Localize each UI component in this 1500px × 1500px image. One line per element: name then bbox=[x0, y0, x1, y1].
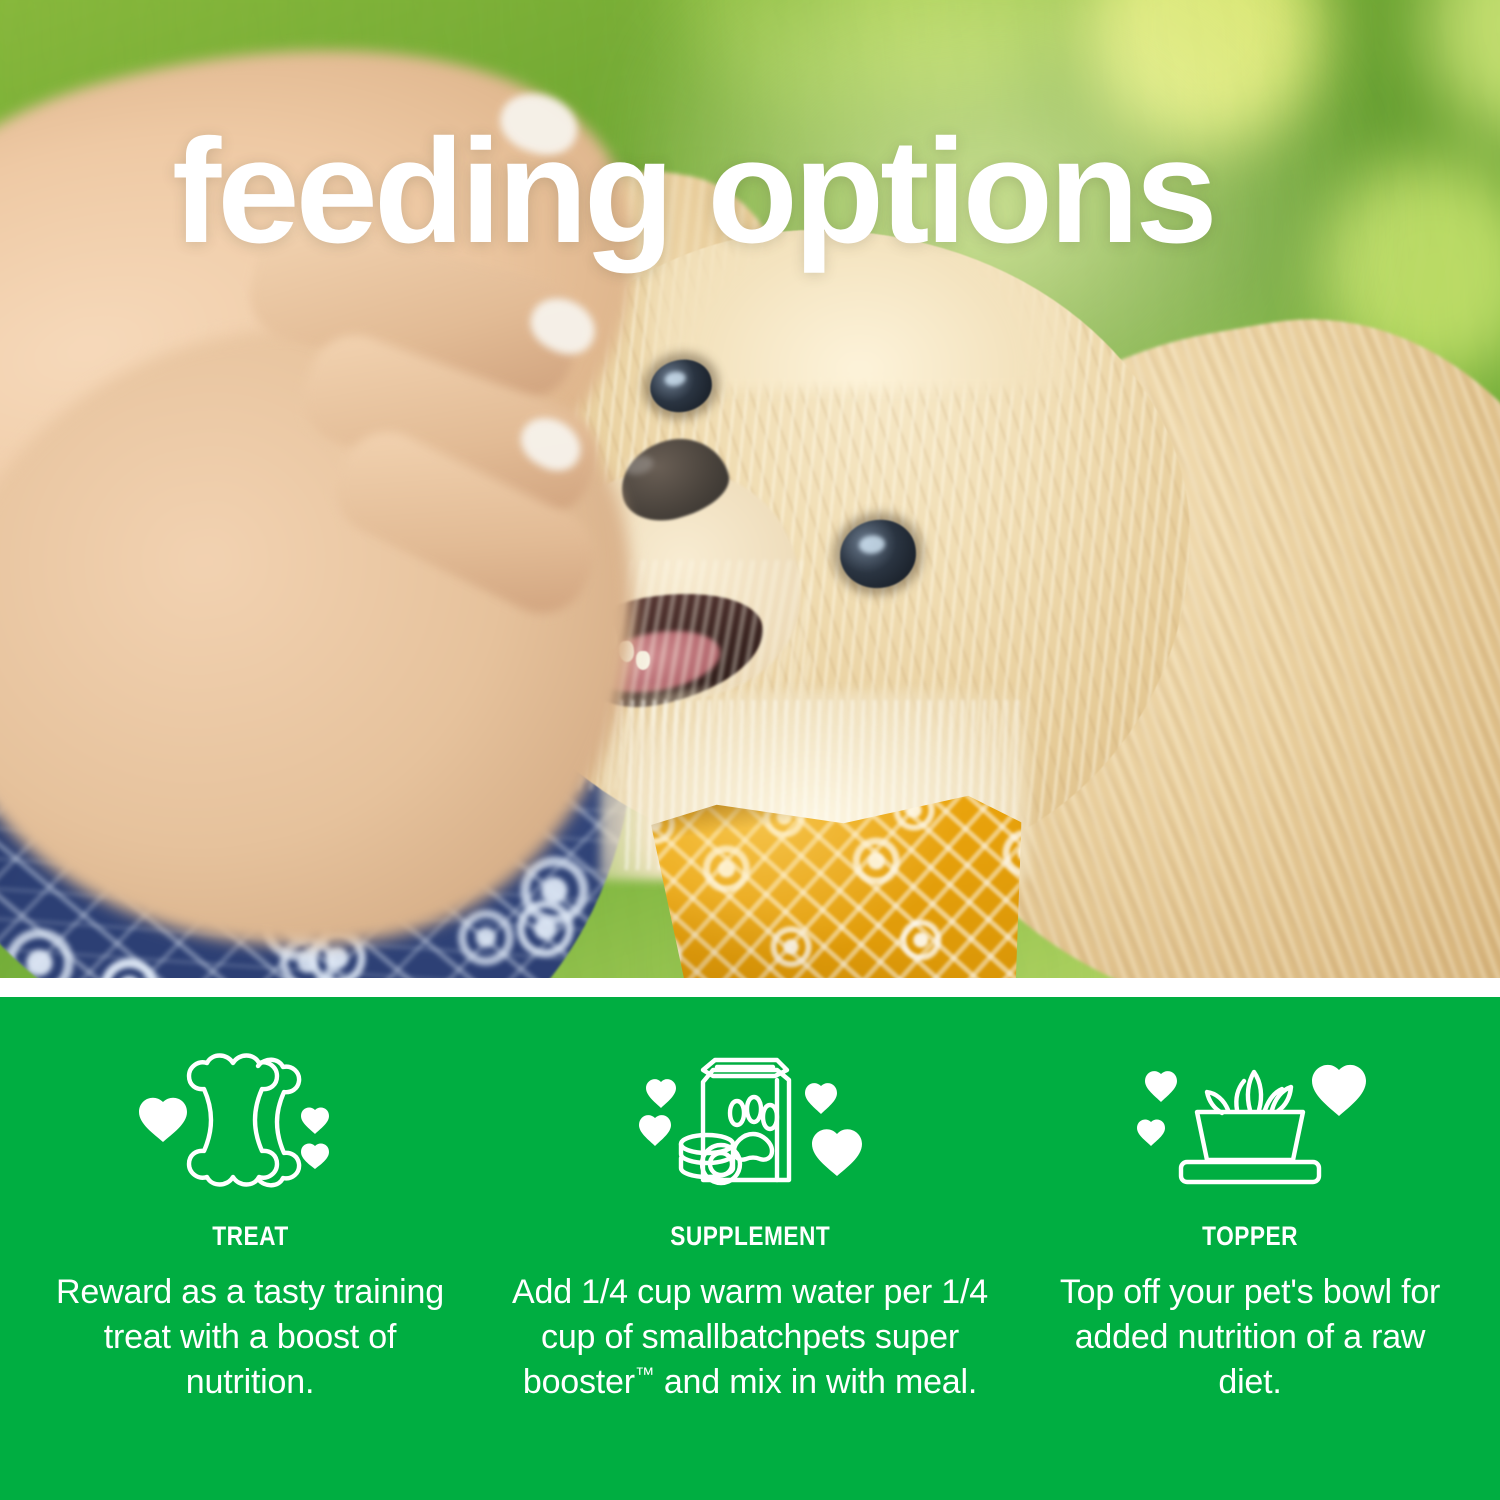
feeding-options-cards: TREAT Reward as a tasty training treat w… bbox=[0, 997, 1500, 1500]
topper-title: TOPPER bbox=[1202, 1221, 1298, 1252]
food-bag-paw-hearts-icon bbox=[625, 1040, 875, 1200]
feeding-option-treat: TREAT Reward as a tasty training treat w… bbox=[0, 997, 500, 1500]
supplement-description: Add 1/4 cup warm water per 1/4 cup of sm… bbox=[510, 1270, 990, 1405]
heart-shapes bbox=[639, 1079, 862, 1176]
feeding-options-panel: TREAT Reward as a tasty training treat w… bbox=[0, 997, 1500, 1500]
supplement-icon-wrap bbox=[620, 1035, 880, 1205]
trademark-symbol: ™ bbox=[635, 1364, 655, 1386]
supplement-description-part2: and mix in with meal. bbox=[655, 1363, 978, 1401]
dog-bone-hearts-icon bbox=[125, 1040, 375, 1200]
eye-catchlight bbox=[664, 371, 687, 388]
treat-icon-wrap bbox=[120, 1035, 380, 1205]
treat-title: TREAT bbox=[212, 1221, 288, 1252]
feeding-option-topper: TOPPER Top off your pet's bowl for added… bbox=[1000, 997, 1500, 1500]
eye-catchlight bbox=[858, 534, 886, 554]
hero-photo: feeding options bbox=[0, 0, 1500, 978]
topper-icon-wrap bbox=[1120, 1035, 1380, 1205]
food-bowl-hearts-icon bbox=[1125, 1040, 1375, 1200]
page-title: feeding options bbox=[172, 118, 1214, 266]
heart-shapes bbox=[139, 1098, 329, 1169]
feeding-option-supplement: SUPPLEMENT Add 1/4 cup warm water per 1/… bbox=[500, 997, 1000, 1500]
feeding-options-infographic: feeding options bbox=[0, 0, 1500, 1500]
topper-description: Top off your pet's bowl for added nutrit… bbox=[1050, 1270, 1450, 1405]
treat-description: Reward as a tasty training treat with a … bbox=[55, 1270, 445, 1405]
supplement-title: SUPPLEMENT bbox=[670, 1221, 830, 1252]
